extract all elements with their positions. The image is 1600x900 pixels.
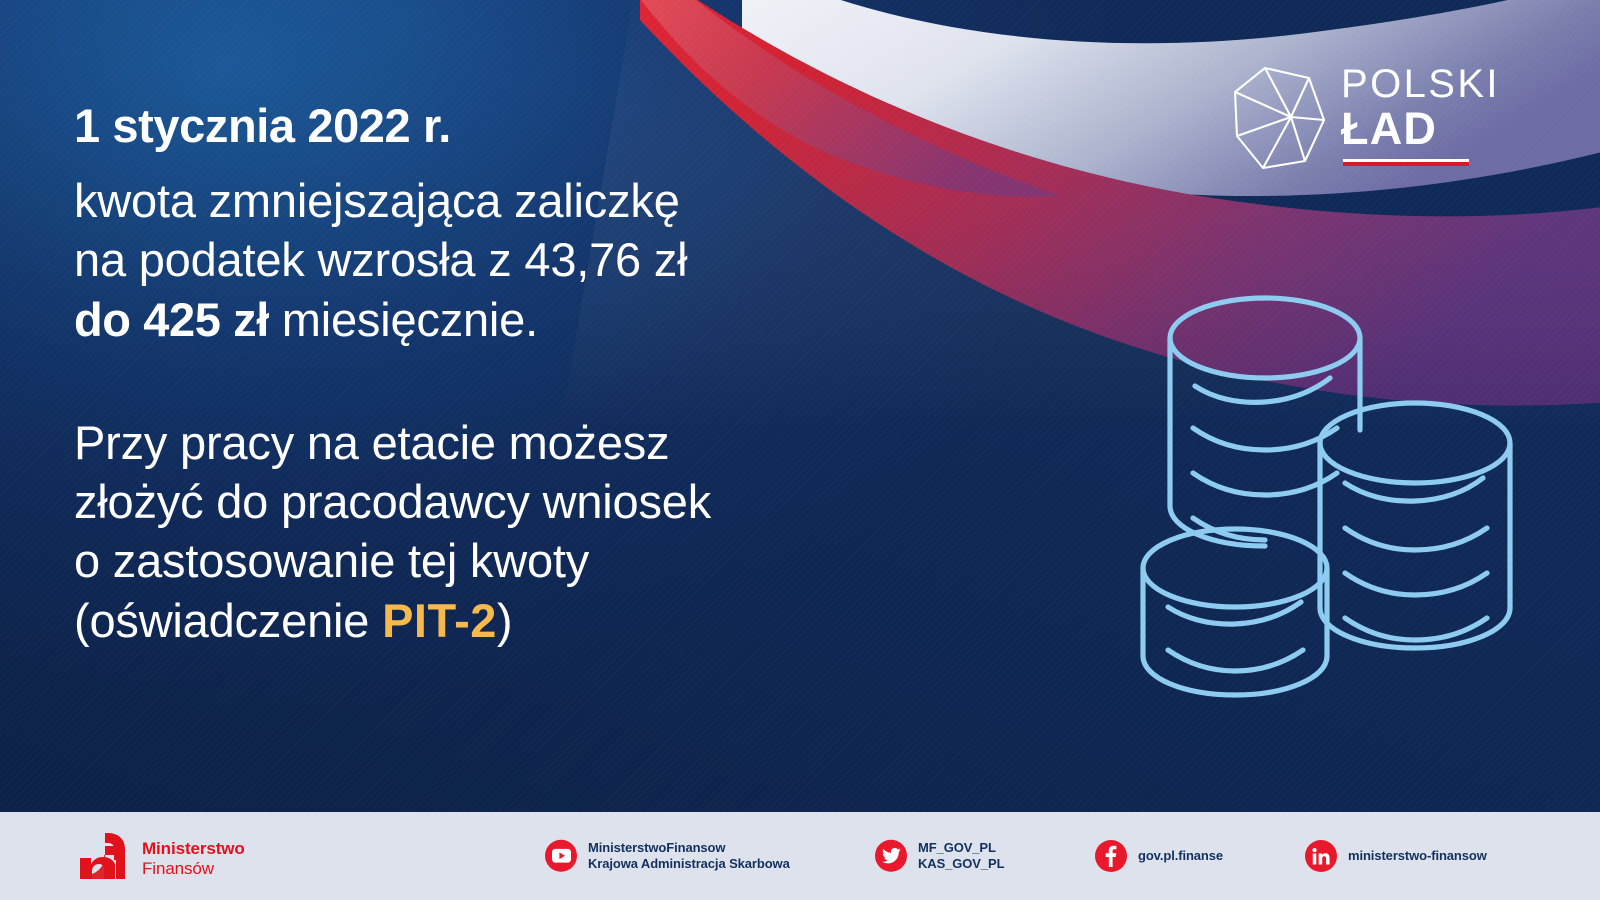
declaration-open-paren: (oświadczenie xyxy=(74,594,382,647)
social-handle-twitter: MF_GOV_PL KAS_GOV_PL xyxy=(918,840,1004,873)
logo-line-polski: POLSKI xyxy=(1341,62,1531,106)
headline-amount-suffix: miesięcznie. xyxy=(269,293,538,346)
social-link-facebook[interactable]: gov.pl.finanse xyxy=(1095,840,1223,872)
headline-line-3: na podatek wzrosła z 43,76 zł xyxy=(74,230,994,289)
secondary-line-2: złożyć do pracodawcy wniosek xyxy=(74,472,994,531)
footer-bar: Ministerstwo Finansów MinisterstwoFinans… xyxy=(0,812,1600,900)
declaration-close-paren: ) xyxy=(497,594,512,647)
twitter-icon xyxy=(875,840,907,872)
facebook-icon xyxy=(1095,840,1127,872)
ministry-of-finance-logo[interactable]: Ministerstwo Finansów xyxy=(78,833,245,884)
logo-flag-underline xyxy=(1343,159,1469,166)
polski-lad-wordmark: POLSKI ŁAD xyxy=(1341,62,1531,152)
polski-lad-logo: POLSKI ŁAD xyxy=(1229,62,1529,174)
social-links: MinisterstwoFinansow Krajowa Administrac… xyxy=(545,812,1545,900)
heptagon-spokes-icon xyxy=(1229,64,1329,177)
underline-red-stripe xyxy=(1343,162,1469,166)
social-link-linkedin[interactable]: ministerstwo-finansow xyxy=(1305,840,1487,872)
secondary-paragraph: Przy pracy na etacie możesz złożyć do pr… xyxy=(74,413,994,650)
social-handle-linkedin: ministerstwo-finansow xyxy=(1348,848,1487,864)
youtube-icon xyxy=(545,840,577,872)
headline-line-4: do 425 zł miesięcznie. xyxy=(74,290,994,349)
social-handle-youtube: MinisterstwoFinansow Krajowa Administrac… xyxy=(588,840,790,873)
ministry-line-2: Finansów xyxy=(142,859,245,878)
headline-paragraph: 1 stycznia 2022 r. kwota zmniejszająca z… xyxy=(74,96,994,349)
logo-line-lad: ŁAD xyxy=(1341,106,1531,152)
headline-date: 1 stycznia 2022 r. xyxy=(74,96,994,155)
headline-amount: do 425 zł xyxy=(74,293,269,346)
mf-monogram-icon xyxy=(78,833,130,884)
secondary-line-4: (oświadczenie PIT-2) xyxy=(74,591,994,650)
ministry-line-1: Ministerstwo xyxy=(142,839,245,858)
ministry-wordmark: Ministerstwo Finansów xyxy=(142,839,245,877)
main-copy: 1 stycznia 2022 r. kwota zmniejszająca z… xyxy=(74,96,994,650)
social-link-youtube[interactable]: MinisterstwoFinansow Krajowa Administrac… xyxy=(545,840,790,873)
secondary-line-1: Przy pracy na etacie możesz xyxy=(74,413,994,472)
pit2-highlight: PIT-2 xyxy=(382,594,497,647)
coin-stacks-icon xyxy=(1125,278,1545,703)
social-link-twitter[interactable]: MF_GOV_PL KAS_GOV_PL xyxy=(875,840,1004,873)
headline-line-2: kwota zmniejszająca zaliczkę xyxy=(74,171,994,230)
linkedin-icon xyxy=(1305,840,1337,872)
secondary-line-3: o zastosowanie tej kwoty xyxy=(74,531,994,590)
social-handle-facebook: gov.pl.finanse xyxy=(1138,848,1223,864)
infographic-poster: 1 stycznia 2022 r. kwota zmniejszająca z… xyxy=(0,0,1600,900)
